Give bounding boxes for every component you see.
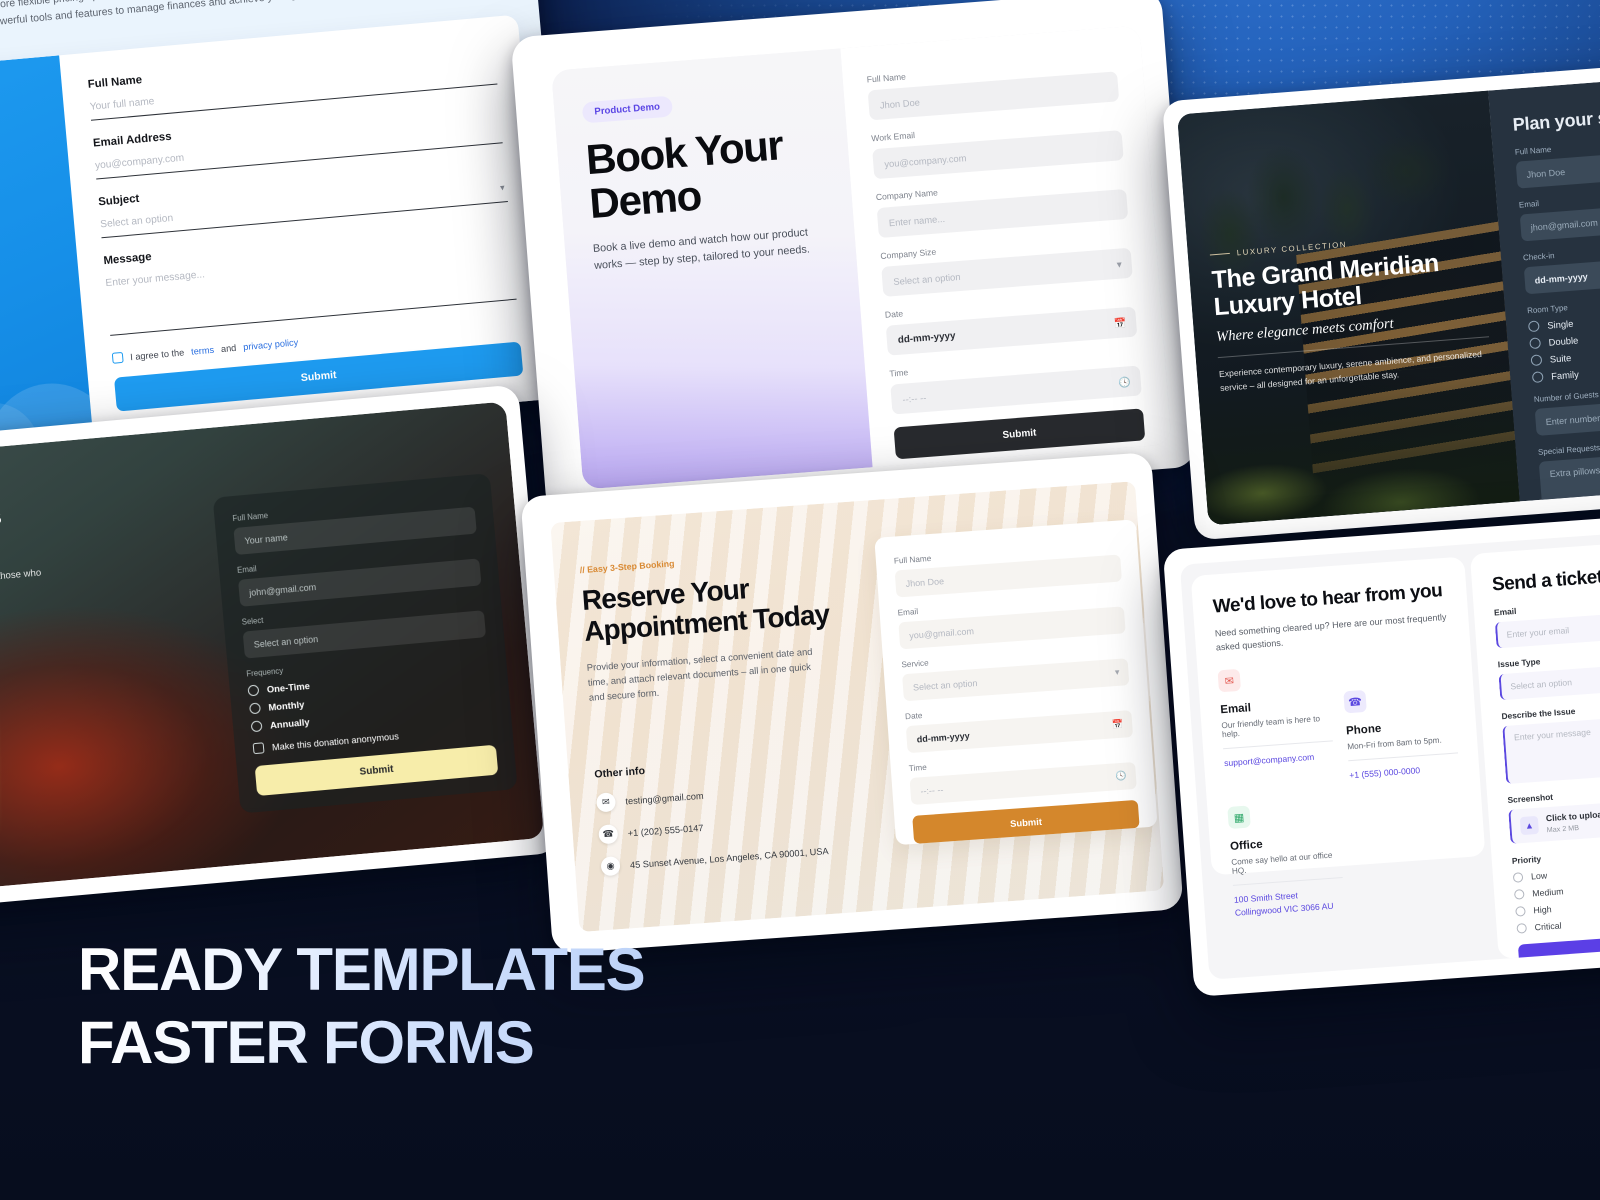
label-special-requests: Special Requests xyxy=(1538,431,1600,457)
checkbox-anonymous-donation[interactable] xyxy=(253,742,265,754)
appointment-subtitle: Provide your information, select a conve… xyxy=(586,643,817,705)
donation-form: Full Name Your name Email john@gmail.com… xyxy=(213,473,518,813)
hotel-hero-text: LUXURY COLLECTION The Grand Meridian Lux… xyxy=(1210,230,1492,396)
channel-link-phone[interactable]: +1 (555) 000-0000 xyxy=(1348,753,1459,783)
upload-hint: Max 2 MB xyxy=(1546,823,1579,834)
consent-text-pre: I agree to the xyxy=(130,347,185,362)
submit-button[interactable]: Submit xyxy=(894,408,1146,459)
calendar-icon[interactable]: 📅 xyxy=(1112,719,1124,731)
field-group-message: Message Enter your message... xyxy=(103,219,517,336)
radio-label: Low xyxy=(1531,870,1548,881)
radio-group-room-type[interactable]: Single Double Suite Family xyxy=(1528,305,1600,383)
label-check-in: Check-in xyxy=(1523,237,1600,263)
chevron-down-icon: ▾ xyxy=(1116,260,1122,271)
radio-circle-icon xyxy=(1516,923,1527,934)
field-group-select: Select Select an option xyxy=(241,596,486,658)
upload-image-icon: ▲ xyxy=(1520,816,1539,835)
hotel-form-heading: Plan your stay xyxy=(1512,98,1600,136)
label-room-type: Room Type xyxy=(1527,290,1600,316)
submit-button[interactable] xyxy=(1518,927,1600,968)
consent-text-mid: and xyxy=(220,342,236,353)
checkbox-terms-consent[interactable] xyxy=(112,352,124,364)
radio-label: Double xyxy=(1548,334,1578,347)
field-group-work-email: Work Email you@company.com xyxy=(871,114,1124,179)
contact-address-line-2: m xyxy=(0,197,51,229)
support-paragraph: Need something cleared up? Here are our … xyxy=(1214,610,1449,655)
appointment-other-info: Other info ✉ testing@gmail.com ☎ +1 (202… xyxy=(594,749,881,877)
contact-address-line-4: 2156 United States xyxy=(0,256,56,288)
demo-subtitle: Book a live demo and watch how our produ… xyxy=(592,223,830,275)
textarea-special-requests[interactable]: Extra pillows... xyxy=(1539,445,1600,517)
radio-circle-icon xyxy=(1514,889,1525,900)
radio-circle-icon xyxy=(1513,872,1524,883)
appointment-form: Full Name Jhon Doe Email you@gmail.com S… xyxy=(874,519,1157,845)
channel-title: Office xyxy=(1230,833,1341,853)
field-group-check-in: Check-in dd-mm-yyyy xyxy=(1523,237,1600,294)
support-channels-row-1: ✉ Email Our friendly team is here to hel… xyxy=(1218,654,1460,791)
label-full-name: Full Name xyxy=(1515,131,1600,157)
contact-item-phone[interactable]: ☎ +1 (202) 555-0147 xyxy=(598,805,879,844)
phone-icon: ☎ xyxy=(1343,690,1367,714)
field-group-service: Service Select an option ▾ xyxy=(901,644,1129,701)
radio-circle-icon xyxy=(249,702,261,714)
radio-circle-icon xyxy=(247,685,259,697)
channel-link-email[interactable]: support@company.com xyxy=(1223,741,1334,771)
contact-item-address[interactable]: ◉ 45 Sunset Avenue, Los Angeles, CA 9000… xyxy=(600,837,881,876)
ticket-form-heading: Send a ticket xyxy=(1491,557,1600,596)
radio-label: Single xyxy=(1547,318,1574,331)
field-group-screenshot: Screenshot ▲ Click to upload Max 2 MB xyxy=(1507,778,1600,844)
field-group-full-name: Full Name Jhon Doe xyxy=(894,540,1122,597)
headline-line-2: FASTER FORMS xyxy=(78,1007,645,1080)
field-group-company-name: Company Name Enter name... xyxy=(875,173,1128,238)
field-group-date: Date dd-mm-yyyy 📅 xyxy=(885,291,1138,356)
radio-label: Medium xyxy=(1532,886,1564,898)
radio-circle-icon xyxy=(1532,371,1544,383)
template-card-hotel-booking[interactable]: LUXURY COLLECTION The Grand Meridian Lux… xyxy=(1162,56,1600,541)
contact-phone-text: +1 (202) 555-0147 xyxy=(627,822,703,837)
radio-group-priority[interactable]: Low Medium High Critical xyxy=(1513,856,1600,934)
field-group-date: Date dd-mm-yyyy 📅 xyxy=(905,696,1133,753)
submit-button[interactable]: Submit xyxy=(912,800,1139,844)
clock-icon[interactable]: 🕓 xyxy=(1118,377,1131,389)
contact-subtitle: Explore flexible pricing options tailore… xyxy=(0,0,391,34)
field-group-describe-issue: Describe the Issue Enter your message xyxy=(1501,694,1600,784)
donation-panel: ation brings ge. support, and opportunit… xyxy=(0,401,544,896)
field-group-time: Time --:-- -- 🕓 xyxy=(909,748,1137,805)
submit-button[interactable]: Submit xyxy=(255,745,499,796)
field-group-email: Email Enter your email xyxy=(1494,590,1600,648)
hotel-panel: LUXURY COLLECTION The Grand Meridian Lux… xyxy=(1177,71,1600,526)
label-email: Email xyxy=(1519,184,1600,210)
headline-line-1: READY TEMPLATES xyxy=(78,934,645,1007)
field-group-email: Email john@gmail.com xyxy=(237,544,482,606)
appointment-page-title: Reserve Your Appointment Today xyxy=(581,566,861,647)
contact-email-text: testing@gmail.com xyxy=(625,790,704,806)
support-info-column: We'd love to hear from you Need somethin… xyxy=(1180,544,1499,980)
radio-circle-icon xyxy=(1529,337,1541,349)
demo-panel: Product Demo Book Your Demo Book a live … xyxy=(551,25,1171,489)
badge-product-demo: Product Demo xyxy=(582,96,673,124)
radio-label: Family xyxy=(1551,369,1579,382)
label-number-of-guests: Number of Guests xyxy=(1534,378,1600,404)
spacer xyxy=(1351,791,1469,911)
contact-address-text: 45 Sunset Avenue, Los Angeles, CA 90001,… xyxy=(630,846,829,870)
field-group-number-of-guests: Number of Guests Enter number... xyxy=(1534,378,1600,435)
support-info-card: We'd love to hear from you Need somethin… xyxy=(1191,557,1486,876)
upload-text: Click to upload Max 2 MB xyxy=(1546,809,1600,835)
channel-link-office[interactable]: 100 Smith Street Collingwood VIC 3066 AU xyxy=(1233,877,1345,920)
textarea-describe-issue[interactable]: Enter your message xyxy=(1502,709,1600,784)
phone-icon: ☎ xyxy=(598,824,618,844)
donation-intro-column: ation brings ge. support, and opportunit… xyxy=(0,495,93,595)
checkbox-label: Make this donation anonymous xyxy=(272,731,400,752)
promo-headline: READY TEMPLATES FASTER FORMS xyxy=(78,934,645,1079)
channel-title: Phone xyxy=(1346,718,1457,738)
contact-address-line-1: oad #33-01 xyxy=(0,156,47,188)
office-building-icon: ▦ xyxy=(1227,806,1251,830)
appointment-intro-column: // Easy 3-Step Booking Reserve Your Appo… xyxy=(550,500,900,932)
field-group-time: Time --:-- -- 🕓 xyxy=(889,349,1142,414)
field-group-company-size: Company Size Select an option ▾ xyxy=(880,232,1133,297)
field-group-issue-type: Issue Type Select an option xyxy=(1497,642,1600,700)
radio-circle-icon xyxy=(251,720,263,732)
radio-label: Suite xyxy=(1549,352,1571,365)
radio-circle-icon xyxy=(1531,354,1543,366)
link-terms[interactable]: terms xyxy=(191,344,215,356)
chevron-down-icon: ▾ xyxy=(500,182,505,193)
radio-label: Monthly xyxy=(268,699,305,713)
radio-label: Annually xyxy=(270,716,310,730)
channel-phone: ☎ Phone Mon-Fri from 8am to 5pm. +1 (555… xyxy=(1341,654,1459,782)
field-group-email: Email you@gmail.com xyxy=(897,592,1125,649)
contact-live-chat-note: live chat! xyxy=(0,121,44,147)
demo-page-title: Book Your Demo xyxy=(584,120,826,225)
radio-label: Critical xyxy=(1534,920,1562,932)
contact-item-email[interactable]: ✉ testing@gmail.com xyxy=(596,774,877,813)
radio-circle-icon xyxy=(1515,906,1526,917)
template-card-support[interactable]: We'd love to hear from you Need somethin… xyxy=(1163,507,1600,997)
demo-intro-column: Product Demo Book Your Demo Book a live … xyxy=(551,48,872,489)
field-group-room-type: Room Type Single Double Suite xyxy=(1527,290,1600,383)
radio-label: One-Time xyxy=(266,680,310,695)
field-group-full-name: Full Name Jhon Doe xyxy=(1515,131,1600,188)
radio-label: High xyxy=(1533,904,1552,915)
donation-heading-line-2: ge. xyxy=(0,521,91,566)
location-pin-icon: ◉ xyxy=(600,856,620,876)
field-group-full-name: Full Name Your name xyxy=(232,493,477,555)
link-privacy-policy[interactable]: privacy policy xyxy=(243,337,299,352)
support-panel: We'd love to hear from you Need somethin… xyxy=(1180,524,1600,980)
chevron-down-icon: ▾ xyxy=(1115,667,1120,678)
channel-email: ✉ Email Our friendly team is here to hel… xyxy=(1218,663,1336,791)
hotel-name: The Grand Meridian Luxury Hotel xyxy=(1211,247,1486,322)
channel-title: Email xyxy=(1220,697,1331,717)
field-group-full-name: Full Name Jhon Doe xyxy=(866,55,1119,120)
upload-cta: Click to upload xyxy=(1546,809,1600,824)
field-group-special-requests: Special Requests Extra pillows... xyxy=(1538,431,1600,517)
template-card-donation[interactable]: ation brings ge. support, and opportunit… xyxy=(0,384,560,913)
appointment-panel: // Easy 3-Step Booking Reserve Your Appo… xyxy=(550,481,1164,932)
hotel-hero-image: LUXURY COLLECTION The Grand Meridian Lux… xyxy=(1177,91,1520,526)
template-card-book-demo[interactable]: Product Demo Book Your Demo Book a live … xyxy=(511,0,1198,516)
channel-description: Mon-Fri from 8am to 5pm. xyxy=(1347,735,1457,752)
template-card-appointment[interactable]: // Easy 3-Step Booking Reserve Your Appo… xyxy=(520,452,1183,954)
channel-description: Come say hello at our office HQ. xyxy=(1231,850,1342,876)
radio-circle-icon xyxy=(1528,320,1540,332)
envelope-icon: ✉ xyxy=(1218,669,1242,693)
channel-office: ▦ Office Come say hello at our office HQ… xyxy=(1227,800,1345,920)
calendar-icon[interactable]: 📅 xyxy=(1113,318,1126,330)
mail-icon: ✉ xyxy=(596,792,616,812)
clock-icon[interactable]: 🕓 xyxy=(1115,771,1127,783)
support-channels-row-2: ▦ Office Come say hello at our office HQ… xyxy=(1227,791,1468,920)
channel-description: Our friendly team is here to help. xyxy=(1221,714,1332,740)
field-group-email: Email jhon@gmail.com xyxy=(1519,184,1600,241)
demo-fields-column: Full Name Jhon Doe Work Email you@compan… xyxy=(840,25,1171,467)
donation-paragraph: support, and opportunity to those who xyxy=(0,561,93,595)
